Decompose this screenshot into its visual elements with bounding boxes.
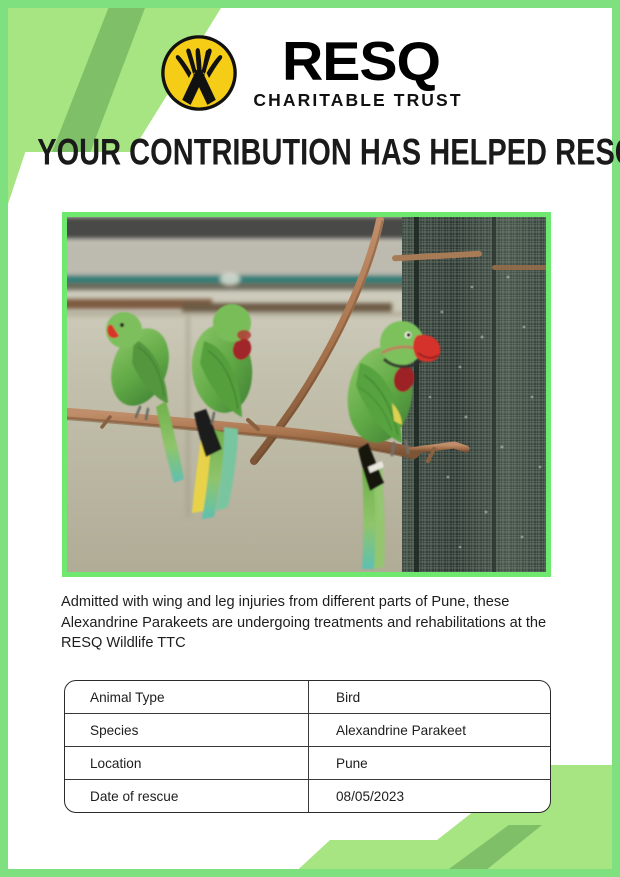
brand-logo: RESQ CHARITABLE TRUST xyxy=(0,31,620,115)
page-border-top xyxy=(0,0,620,8)
row-value: 08/05/2023 xyxy=(309,780,550,812)
brand-wordmark: RESQ xyxy=(282,35,440,87)
page-border-bottom xyxy=(0,869,620,877)
parakeets-aviary-image xyxy=(67,217,546,572)
row-label: Animal Type xyxy=(65,681,309,713)
rescue-description: Admitted with wing and leg injuries from… xyxy=(61,592,561,654)
rescue-photo xyxy=(62,212,551,577)
row-value: Alexandrine Parakeet xyxy=(309,714,550,746)
crossed-hands-circle-icon xyxy=(157,31,241,115)
table-row: Species Alexandrine Parakeet xyxy=(65,714,550,747)
animal-details-table: Animal Type Bird Species Alexandrine Par… xyxy=(64,680,551,813)
row-label: Date of rescue xyxy=(65,780,309,812)
table-row: Animal Type Bird xyxy=(65,681,550,714)
row-value: Pune xyxy=(309,747,550,779)
brand-tagline: CHARITABLE TRUST xyxy=(253,90,462,111)
table-row: Date of rescue 08/05/2023 xyxy=(65,780,550,812)
page-border-left xyxy=(0,0,8,877)
page-title: YOUR CONTRIBUTION HAS HELPED RESCUE THE … xyxy=(37,133,583,172)
row-label: Species xyxy=(65,714,309,746)
row-label: Location xyxy=(65,747,309,779)
row-value: Bird xyxy=(309,681,550,713)
table-row: Location Pune xyxy=(65,747,550,780)
rescue-certificate-poster: RESQ CHARITABLE TRUST YOUR CONTRIBUTION … xyxy=(0,0,620,877)
